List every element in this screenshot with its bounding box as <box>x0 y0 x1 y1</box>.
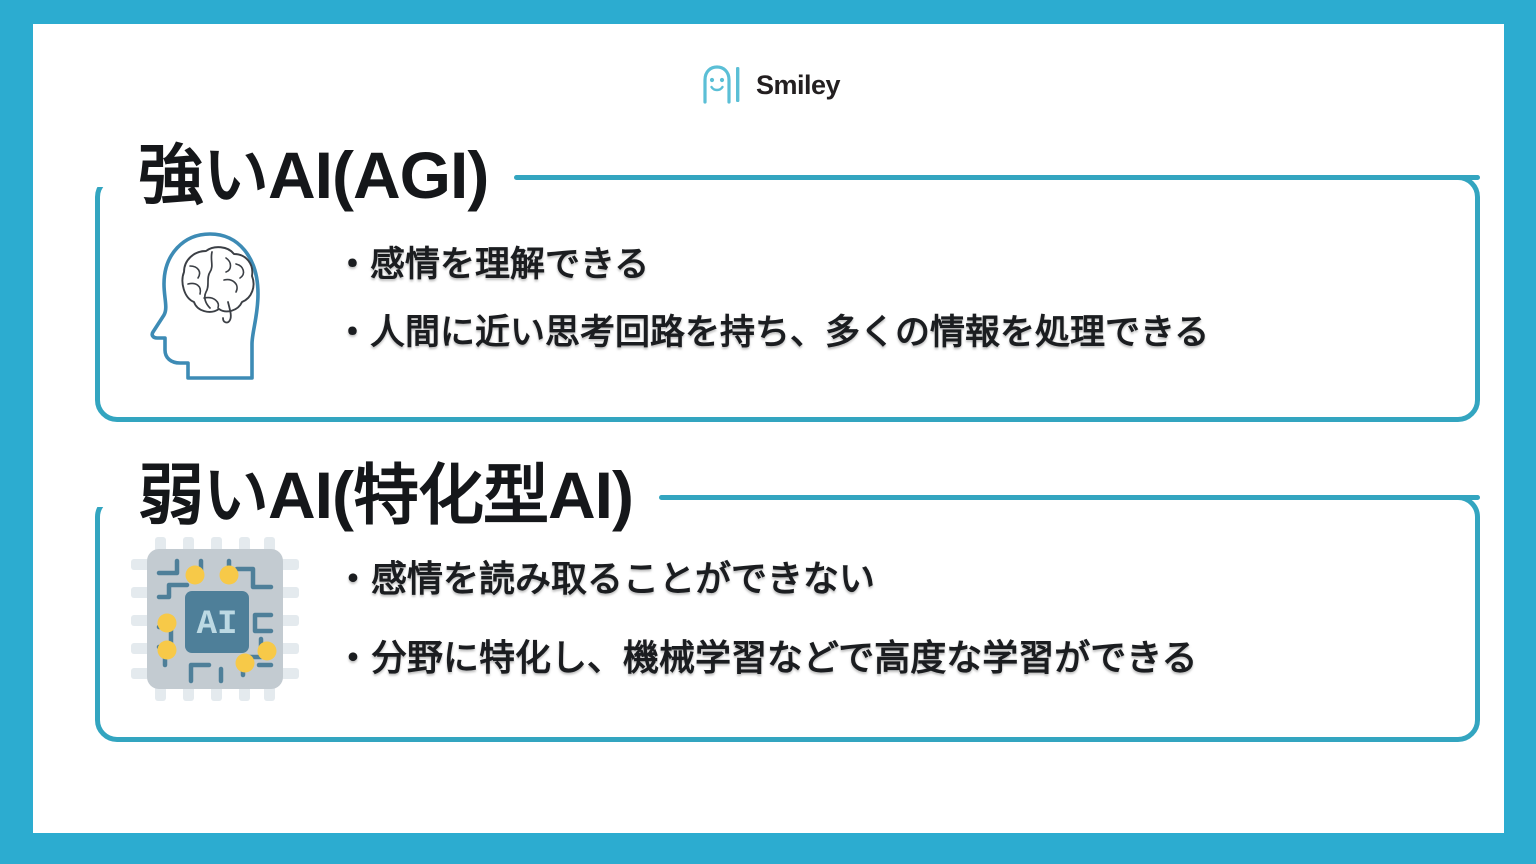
slide-page: Smiley 強いAI(AGI) <box>33 24 1504 833</box>
ai-chip-label: AI <box>197 606 238 644</box>
bullet-item: ・感情を理解できる <box>335 245 1466 284</box>
brand-logo: Smiley <box>33 64 1504 104</box>
bullet-item: ・感情を読み取ることができない <box>335 559 1466 599</box>
brand-logo-text: Smiley <box>756 72 840 99</box>
section-weak-ai: 弱いAI(特化型AI) <box>33 449 1504 541</box>
section-1-body: ・感情を理解できる ・人間に近い思考回路を持ち、多くの情報を処理できる <box>95 175 1480 422</box>
section-1-icon-wrap <box>95 216 335 381</box>
bullet-item: ・人間に近い思考回路を持ち、多くの情報を処理できる <box>335 313 1466 352</box>
ai-chip-icon: AI <box>125 535 305 703</box>
section-2-body: AI ・感情を読み取ることができない ・分野に特化し、機械学習などで高度な学習が… <box>95 495 1480 742</box>
section-1-bullets: ・感情を理解できる ・人間に近い思考回路を持ち、多くの情報を処理できる <box>335 245 1480 351</box>
section-2-bullets: ・感情を読み取ることができない ・分野に特化し、機械学習などで高度な学習ができる <box>335 559 1480 678</box>
ai-smiley-face-icon <box>697 64 753 104</box>
bullet-item: ・分野に特化し、機械学習などで高度な学習ができる <box>335 638 1466 678</box>
slide-root: { "brand": { "logo_word": "Smiley", "log… <box>0 0 1536 864</box>
section-2-icon-wrap: AI <box>95 535 335 703</box>
brain-head-icon <box>140 216 290 381</box>
section-strong-ai: 強いAI(AGI) <box>33 129 1504 221</box>
